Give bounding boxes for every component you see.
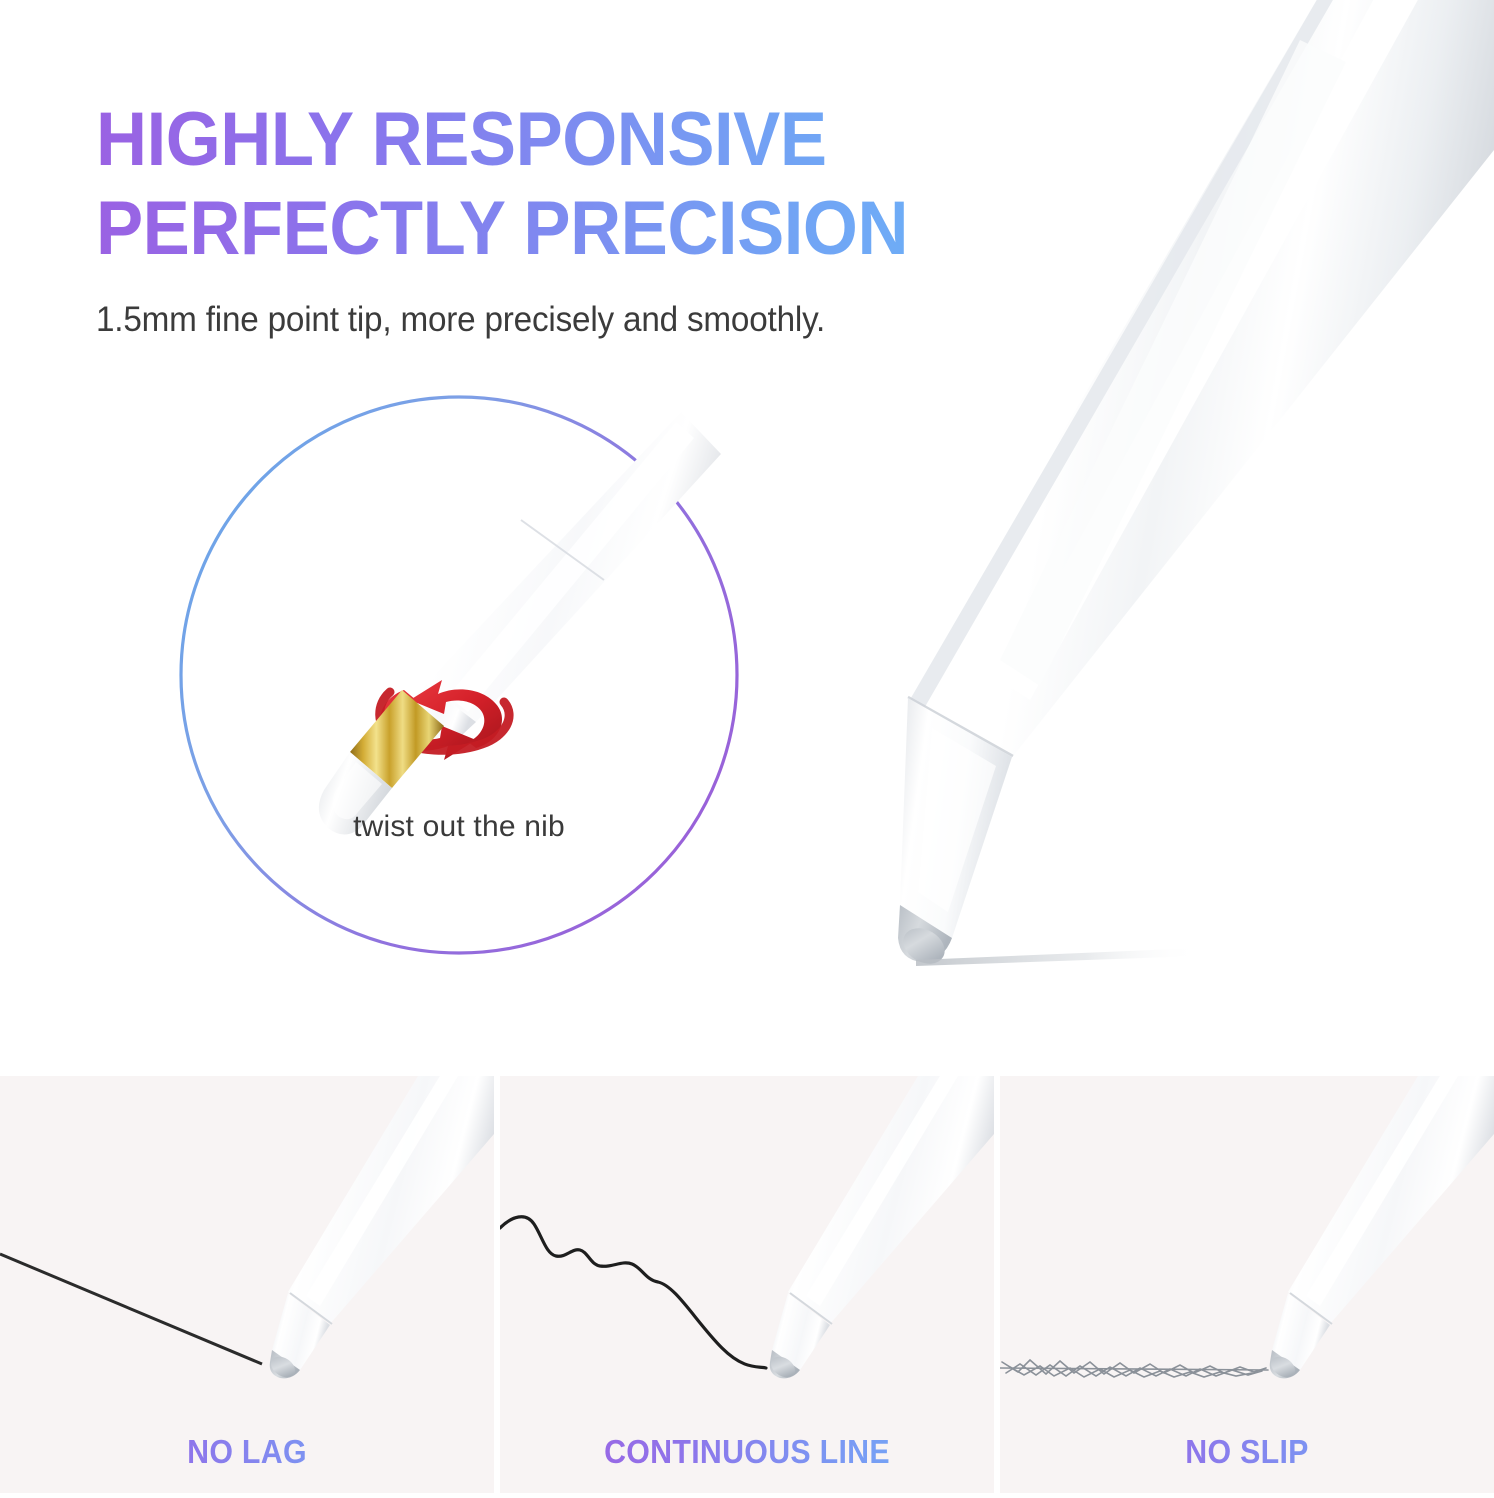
- headline-line-2: PERFECTLY PRECISION: [96, 185, 989, 274]
- panel-continuous-line: CONTINUOUS LINE: [500, 1076, 994, 1493]
- panel-label-no-slip: NO SLIP: [1020, 1433, 1474, 1471]
- stylus-cone: [900, 698, 1012, 938]
- no-slip-artwork: [1000, 1076, 1494, 1493]
- hero-text-block: HIGHLY RESPONSIVE PERFECTLY PRECISION 1.…: [96, 96, 1056, 340]
- continuous-line-artwork: [500, 1076, 994, 1493]
- no-lag-artwork: [0, 1076, 494, 1493]
- stylus-seam: [908, 697, 1013, 756]
- panel-no-slip: NO SLIP: [1000, 1076, 1494, 1493]
- panel-no-lag: NO LAG: [0, 1076, 494, 1493]
- nib-detail-circle-inset: twist out the nib: [176, 392, 742, 958]
- feature-panels-row: NO LAG: [0, 1076, 1494, 1493]
- stylus-contact-shadow: [916, 948, 1200, 966]
- inset-caption: twist out the nib: [176, 810, 742, 844]
- panel-label-no-lag: NO LAG: [20, 1433, 474, 1471]
- stylus-nib: [897, 905, 952, 971]
- headline-line-1: HIGHLY RESPONSIVE: [96, 96, 989, 185]
- panel-label-continuous-line: CONTINUOUS LINE: [520, 1433, 974, 1471]
- nib-detail-svg: [176, 392, 742, 958]
- subtitle-text: 1.5mm fine point tip, more precisely and…: [96, 300, 1008, 340]
